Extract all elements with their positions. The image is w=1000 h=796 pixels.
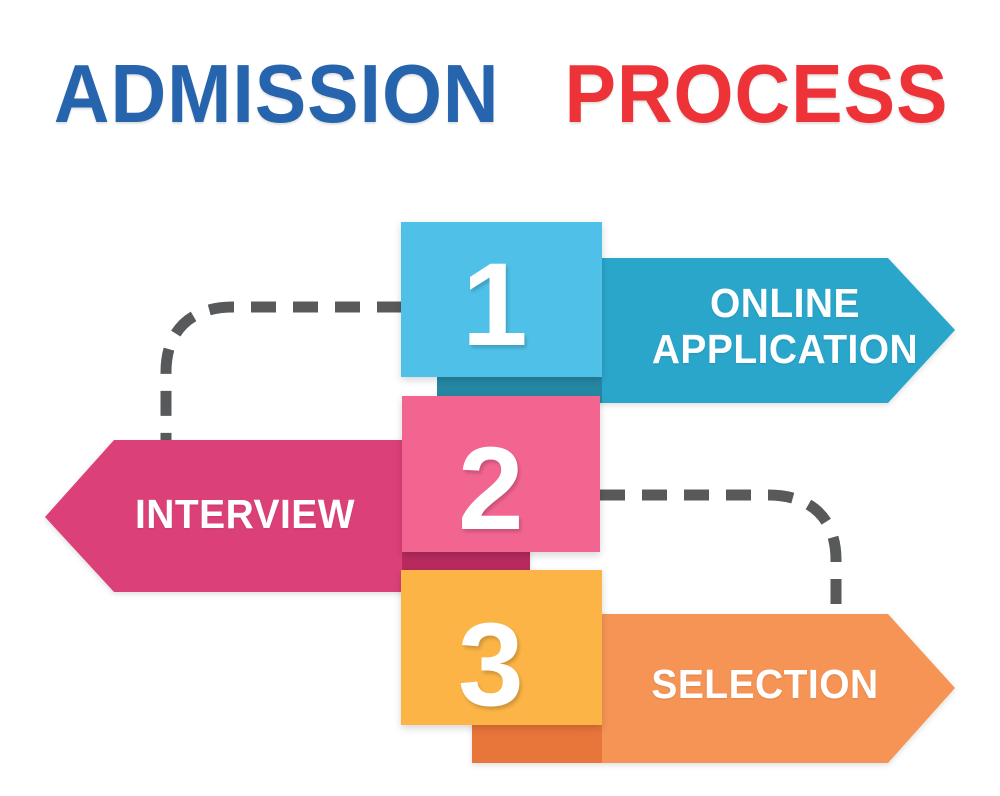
step-2-label-line-1: INTERVIEW [93,492,397,538]
step-3-label-line-1: SELECTION [608,662,922,708]
connector-step1-to-step2 [166,307,402,463]
step-1-number: 1 [462,246,528,364]
step-3-number: 3 [458,606,524,724]
infographic-canvas: ADMISSIONPROCESS [0,0,1000,796]
step-1-label-line-1: ONLINE [628,281,942,327]
step-3-label: SELECTION [608,662,922,708]
step-2-label: INTERVIEW [93,492,397,538]
step-2-number: 2 [458,430,524,548]
step-1-label-line-2: APPLICATION [628,327,942,373]
step-1-label: ONLINE APPLICATION [628,281,942,373]
